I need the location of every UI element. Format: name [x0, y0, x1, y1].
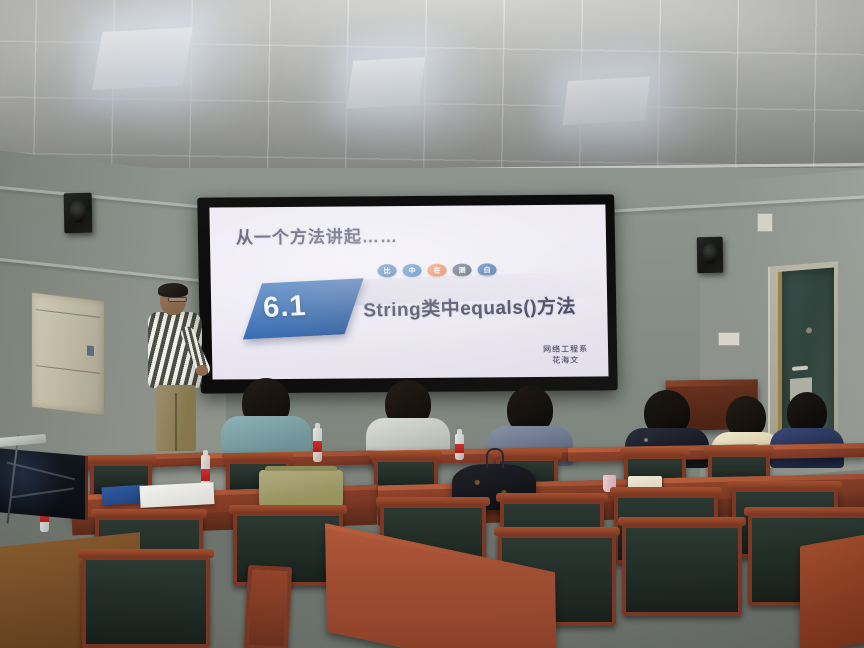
slide-title: 从一个方法讲起……: [236, 222, 398, 248]
chair-front-3[interactable]: [622, 524, 742, 616]
bottle-label: [313, 441, 322, 453]
chair-back: [622, 524, 742, 616]
chair-back: [82, 556, 210, 648]
slide-signature-name: 花海文: [543, 355, 588, 367]
bottle-cap: [457, 429, 462, 434]
bottle-label: [201, 469, 210, 481]
light-switch[interactable]: [757, 213, 773, 232]
slide-chapter-number: 6.1: [262, 290, 307, 325]
chair-back: [244, 565, 292, 648]
cabinet-seam: [36, 309, 99, 318]
wall-speaker-right: [697, 237, 724, 273]
wall-notice: [718, 332, 740, 346]
wall-speaker-left: [64, 193, 93, 233]
door-peephole-icon: [806, 327, 812, 333]
slide-signature-department: 网络工程系: [543, 343, 588, 355]
glasses-icon: [168, 297, 187, 302]
classroom-photo: 从一个方法讲起…… 比 中 在 测 白 6.1 String类中equals()…: [0, 0, 864, 648]
presenter: [146, 285, 208, 450]
slide-badge-icon-1: 比: [377, 264, 396, 277]
cabinet-seam-lower: [36, 365, 99, 374]
bottle-label: [455, 444, 464, 453]
chair-front-1[interactable]: [82, 556, 210, 648]
door-handle[interactable]: [792, 366, 808, 371]
olive-bag[interactable]: [259, 470, 343, 508]
chair-foreground-side[interactable]: [244, 565, 292, 648]
bottle-cap: [203, 450, 208, 455]
attendee-1: [221, 378, 311, 462]
slide-badge-icon-3: 在: [427, 264, 446, 277]
cabinet-latch[interactable]: [87, 345, 94, 356]
desk-foreground-right: [800, 534, 864, 648]
projection-screen[interactable]: 从一个方法讲起…… 比 中 在 测 白 6.1 String类中equals()…: [197, 194, 618, 393]
bottle-cap: [315, 423, 320, 428]
paper-sheet[interactable]: [139, 482, 214, 508]
presentation-slide: 从一个方法讲起…… 比 中 在 测 白 6.1 String类中equals()…: [209, 204, 608, 379]
water-bottle-1[interactable]: [313, 428, 322, 462]
attendee-2: [366, 380, 450, 460]
wall-cabinet[interactable]: [31, 291, 105, 416]
blue-folder[interactable]: [101, 485, 144, 506]
slide-badge-icon-2: 中: [402, 264, 421, 277]
presenter-hand: [196, 365, 208, 376]
presenter-hair: [158, 283, 188, 297]
slide-heading: String类中equals()方法: [363, 292, 576, 323]
water-bottle-2[interactable]: [455, 434, 464, 460]
slide-signature: 网络工程系 花海文: [543, 343, 588, 367]
presenter-legs: [156, 385, 196, 451]
